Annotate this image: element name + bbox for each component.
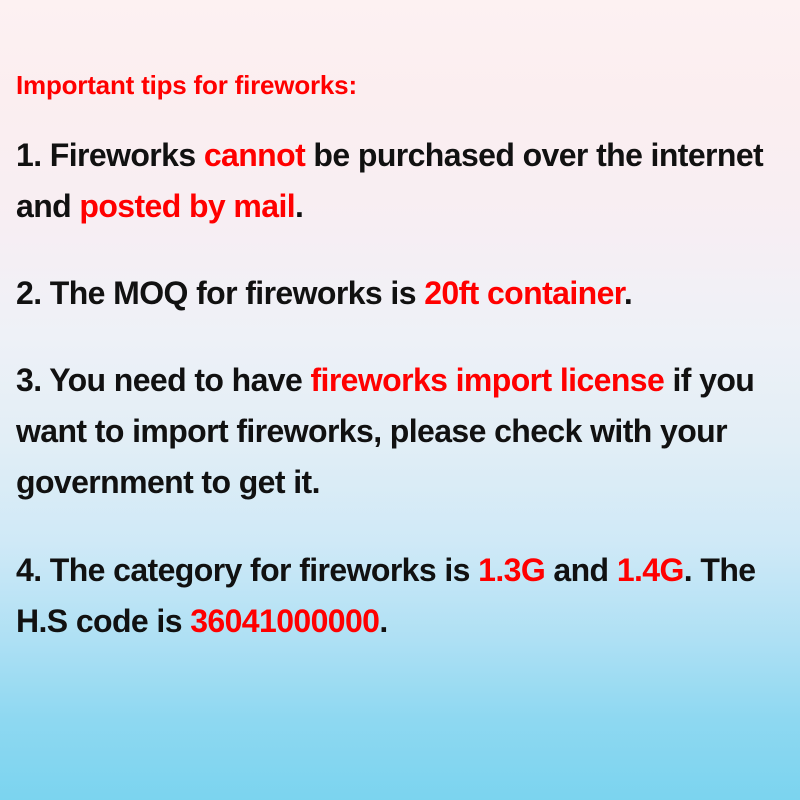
highlighted-text: 20ft container xyxy=(424,275,624,311)
highlighted-text: 36041000000 xyxy=(190,603,379,639)
body-text: . xyxy=(379,603,387,639)
body-text: 3. You need to have xyxy=(16,362,310,398)
tip-item-2: 2. The MOQ for fireworks is 20ft contain… xyxy=(16,268,784,319)
highlighted-text: 1.3G xyxy=(478,552,545,588)
body-text: 2. The MOQ for fireworks is xyxy=(16,275,424,311)
highlighted-text: fireworks import license xyxy=(310,362,664,398)
body-text: . xyxy=(624,275,632,311)
body-text: . xyxy=(295,188,303,224)
tip-item-1: 1. Fireworks cannot be purchased over th… xyxy=(16,130,784,232)
highlighted-text: 1.4G xyxy=(617,552,684,588)
tip-item-3: 3. You need to have fireworks import lic… xyxy=(16,355,784,508)
body-text: and xyxy=(545,552,617,588)
body-text: 4. The category for fireworks is xyxy=(16,552,478,588)
highlighted-text: cannot xyxy=(204,137,305,173)
tip-item-4: 4. The category for fireworks is 1.3G an… xyxy=(16,545,784,647)
page-title: Important tips for fireworks: xyxy=(16,68,784,102)
highlighted-text: posted by mail xyxy=(79,188,295,224)
fireworks-tips-poster: Important tips for fireworks: 1. Firewor… xyxy=(0,0,800,800)
poster-content: Important tips for fireworks: 1. Firewor… xyxy=(16,68,784,647)
body-text: 1. Fireworks xyxy=(16,137,204,173)
